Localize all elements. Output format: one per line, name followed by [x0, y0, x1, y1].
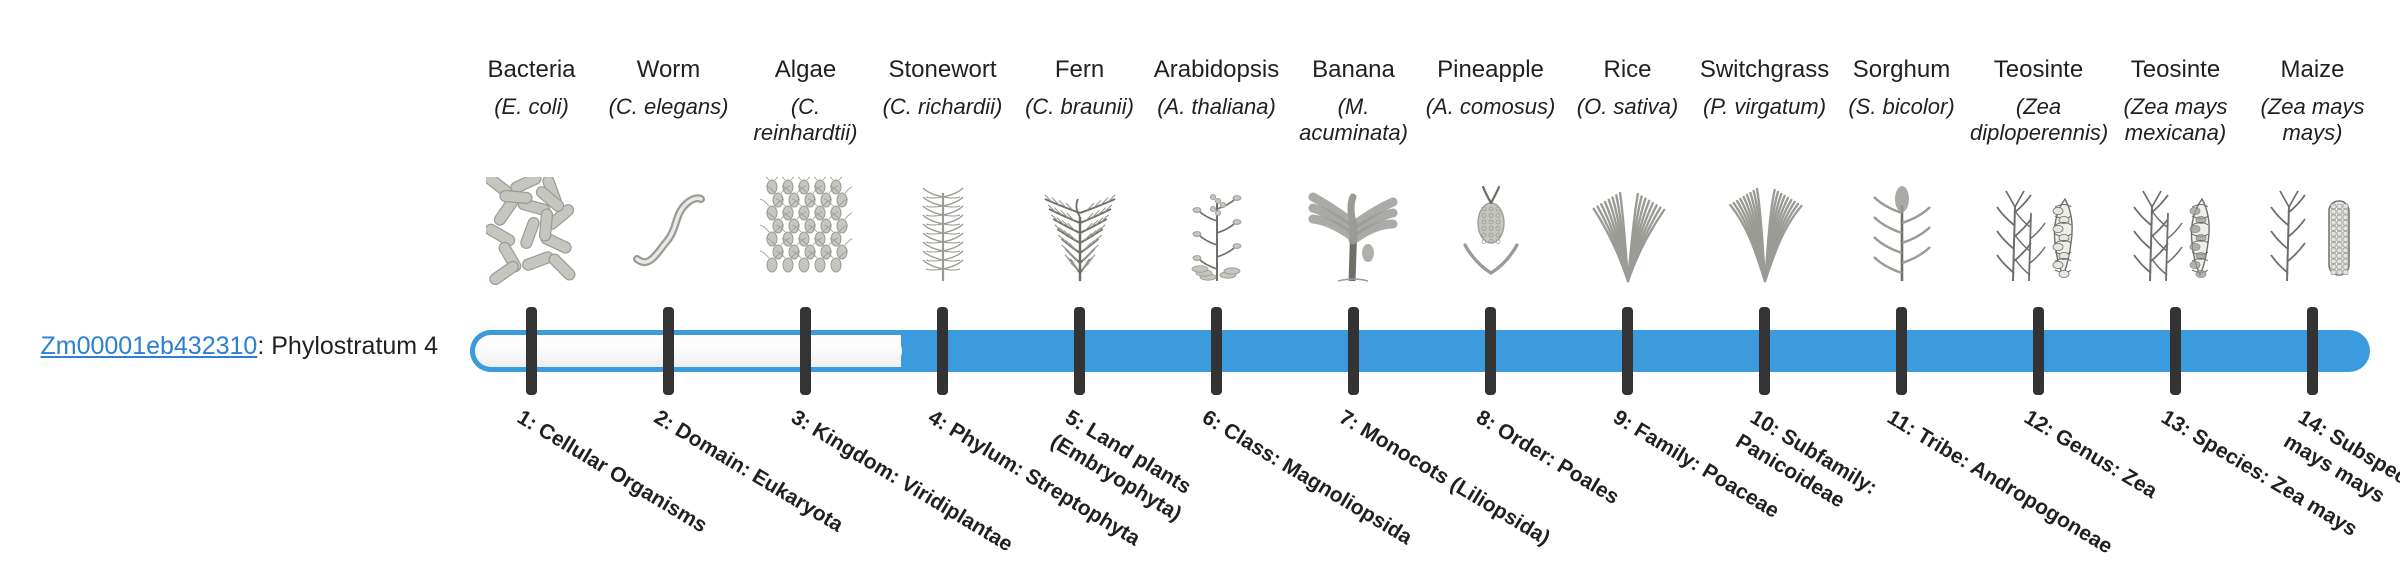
phylostratum-rank: Monocots	[1356, 418, 1453, 489]
worm-illustration	[600, 175, 737, 285]
species-scientific-name: (P. virgatum)	[1696, 94, 1833, 120]
phylostratum-number: 3:	[787, 406, 815, 435]
species-scientific-name: (A. comosus)	[1422, 94, 1559, 120]
pineapple-illustration	[1422, 175, 1559, 285]
phylostratum-label-13: 13: Species: Zea mays	[2155, 404, 2392, 562]
phylostratum-number: 9:	[1609, 406, 1637, 435]
fern-illustration	[1011, 175, 1148, 285]
phylostratum-value-text: Phylostratum 4	[271, 332, 438, 360]
species-scientific-name: (S. bicolor)	[1833, 94, 1970, 120]
phylostratum-rank: Tribe:	[1913, 424, 1974, 473]
phylostratum-label-10: 10: Subfamily: Panicoideae	[1730, 404, 1981, 585]
species-common-name: Stonewort	[874, 56, 1011, 84]
phylostratum-rank: Order:	[1493, 418, 1560, 471]
species-scientific-name: (Zea mays mays)	[2244, 94, 2381, 145]
phylostratum-taxon: Streptophyta	[1021, 464, 1144, 550]
species-column-6: Arabidopsis(A. thaliana)	[1148, 56, 1285, 120]
phylostratum-number: 6:	[1198, 406, 1226, 435]
species-scientific-name: (Zea mays mexicana)	[2107, 94, 2244, 145]
phylostratum-tick-2[interactable]	[663, 307, 674, 395]
phylostratum-number: 7:	[1335, 406, 1363, 435]
bacteria-illustration	[463, 175, 600, 285]
phylostratum-tick-5[interactable]	[1074, 307, 1085, 395]
phylostratum-number: 2:	[650, 406, 678, 435]
phylostratum-label-1: 1: Cellular Organisms	[511, 404, 748, 562]
switchgrass-illustration	[1696, 175, 1833, 285]
arabidopsis-illustration	[1148, 175, 1285, 285]
phylostratum-number: 5:	[1061, 406, 1089, 435]
species-common-name: Pineapple	[1422, 56, 1559, 84]
phylostratum-tick-13[interactable]	[2170, 307, 2181, 395]
species-column-1: Bacteria(E. coli)	[463, 56, 600, 120]
phylostratum-tick-6[interactable]	[1211, 307, 1222, 395]
species-column-13: Teosinte(Zea mays mexicana)	[2107, 56, 2244, 145]
species-column-11: Sorghum(S. bicolor)	[1833, 56, 1970, 120]
phylostratum-rank: Phylum:	[945, 418, 1028, 480]
species-common-name: Fern	[1011, 56, 1148, 84]
phylostratum-number: 4:	[924, 406, 952, 435]
species-scientific-name: (E. coli)	[463, 94, 600, 120]
species-common-name: Banana	[1285, 56, 1422, 84]
phylostratum-rank: Land plants	[1082, 418, 1195, 498]
phylostratum-tick-12[interactable]	[2033, 307, 2044, 395]
phylostratum-tick-1[interactable]	[526, 307, 537, 395]
species-scientific-name: (O. sativa)	[1559, 94, 1696, 120]
species-common-name: Maize	[2244, 56, 2381, 84]
phylostratum-rank: Cellular	[534, 418, 612, 477]
algae-illustration	[737, 175, 874, 285]
phylostratum-tick-14[interactable]	[2307, 307, 2318, 395]
phylostratum-taxon: Zea mays	[2267, 472, 2361, 541]
phylostratum-label-3: 3: Kingdom: Viridiplantae	[785, 404, 1022, 562]
phylostratum-taxon: Zea	[2118, 465, 2161, 503]
phylostratum-bar-track[interactable]	[470, 330, 2370, 372]
phylostratum-number: 10:	[1746, 406, 1784, 441]
gene-id-link[interactable]: Zm00001eb432310	[40, 332, 257, 360]
species-column-10: Switchgrass(P. virgatum)	[1696, 56, 1833, 120]
phylostratum-taxon: Zea mays mays	[2279, 429, 2400, 529]
gene-phylostratum-label: Zm00001eb432310: Phylostratum 4	[38, 331, 438, 361]
teosinte-mexicana-illustration	[2107, 175, 2244, 285]
species-column-8: Pineapple(A. comosus)	[1422, 56, 1559, 120]
phylostratum-taxon: (Liliopsida)	[1446, 472, 1554, 549]
species-column-14: Maize(Zea mays mays)	[2244, 56, 2381, 145]
species-column-5: Fern(C. braunii)	[1011, 56, 1148, 120]
banana-illustration	[1285, 175, 1422, 285]
species-scientific-name: (C. richardii)	[874, 94, 1011, 120]
phylostratum-number: 1:	[513, 406, 541, 435]
phylostratum-timeline: Zm00001eb432310: Phylostratum 4 Bacteria…	[0, 0, 2400, 580]
species-column-9: Rice(O. sativa)	[1559, 56, 1696, 120]
phylostratum-bar-unfilled-interior	[475, 335, 901, 367]
phylostratum-taxon: Poales	[1553, 454, 1623, 509]
phylostratum-rank: Subfamily:	[1777, 424, 1881, 499]
phylostratum-bar-fill-boundary-cap	[868, 335, 902, 367]
species-common-name: Switchgrass	[1696, 56, 1833, 84]
phylostratum-tick-3[interactable]	[800, 307, 811, 395]
phylostratum-tick-8[interactable]	[1485, 307, 1496, 395]
phylostratum-number: 13:	[2157, 406, 2195, 441]
rice-illustration	[1559, 175, 1696, 285]
species-column-7: Banana(M. acuminata)	[1285, 56, 1422, 145]
species-scientific-name: (C. braunii)	[1011, 94, 1148, 120]
phylostratum-taxon: Panicoideae	[1731, 429, 1848, 512]
species-scientific-name: (M. acuminata)	[1285, 94, 1422, 145]
species-common-name: Rice	[1559, 56, 1696, 84]
phylostratum-taxon: Eukaryota	[748, 465, 847, 537]
phylostratum-rank: Subspecies:	[2325, 424, 2400, 507]
phylostratum-number: 14:	[2294, 406, 2332, 441]
species-common-name: Algae	[737, 56, 874, 84]
phylostratum-rank: Kingdom:	[808, 418, 904, 488]
phylostratum-tick-11[interactable]	[1896, 307, 1907, 395]
species-column-12: Teosinte(Zea diploperennis)	[1970, 56, 2107, 145]
phylostratum-taxon: Viridiplantae	[897, 472, 1017, 556]
phylostratum-tick-7[interactable]	[1348, 307, 1359, 395]
phylostratum-label-14: 14: Subspecies: Zea mays mays	[2278, 404, 2400, 585]
species-scientific-name: (C. reinhardtii)	[737, 94, 874, 145]
species-column-4: Stonewort(C. richardii)	[874, 56, 1011, 120]
phylostratum-taxon: (Embryophyta)	[1046, 429, 1185, 525]
phylostratum-taxon: Organisms	[605, 461, 711, 537]
phylostratum-number: 11:	[1883, 406, 1920, 441]
phylostratum-taxon: Poaceae	[1698, 459, 1783, 523]
phylostratum-tick-9[interactable]	[1622, 307, 1633, 395]
phylostratum-number: 8:	[1472, 406, 1500, 435]
maize-illustration	[2244, 175, 2381, 285]
phylostratum-label-12: 12: Genus: Zea	[2018, 404, 2255, 562]
species-scientific-name: (C. elegans)	[600, 94, 737, 120]
phylostratum-label-6: 6: Class: Magnoliopsida	[1196, 404, 1433, 562]
phylostratum-rank: Genus:	[2051, 424, 2125, 481]
species-common-name: Sorghum	[1833, 56, 1970, 84]
phylostratum-label-5: 5: Land plants (Embryophyta)	[1045, 404, 1296, 585]
phylostratum-taxon: Andropogoneae	[1966, 456, 2116, 559]
phylostratum-tick-4[interactable]	[937, 307, 948, 395]
phylostratum-number: 12:	[2020, 406, 2058, 441]
phylostratum-rank: Class:	[1219, 418, 1285, 470]
phylostratum-taxon: Magnoliopsida	[1278, 454, 1416, 549]
species-common-name: Teosinte	[1970, 56, 2107, 84]
species-scientific-name: (Zea diploperennis)	[1970, 94, 2107, 145]
phylostratum-label-8: 8: Order: Poales	[1470, 404, 1707, 562]
phylostratum-label-7: 7: Monocots (Liliopsida)	[1333, 404, 1570, 562]
phylostratum-rank: Domain:	[671, 418, 755, 481]
gene-label-separator: :	[257, 332, 271, 360]
species-column-2: Worm(C. elegans)	[600, 56, 737, 120]
phylostratum-tick-10[interactable]	[1759, 307, 1770, 395]
species-common-name: Bacteria	[463, 56, 600, 84]
species-scientific-name: (A. thaliana)	[1148, 94, 1285, 120]
stonewort-illustration	[874, 175, 1011, 285]
phylostratum-rank: Family:	[1630, 418, 1705, 476]
species-common-name: Teosinte	[2107, 56, 2244, 84]
phylostratum-label-9: 9: Family: Poaceae	[1607, 404, 1844, 562]
species-common-name: Arabidopsis	[1148, 56, 1285, 84]
species-column-3: Algae(C. reinhardtii)	[737, 56, 874, 145]
sorghum-illustration	[1833, 175, 1970, 285]
phylostratum-label-2: 2: Domain: Eukaryota	[648, 404, 885, 562]
phylostratum-label-11: 11: Tribe: Andropogoneae	[1881, 404, 2118, 562]
teosinte-diploperennis-illustration	[1970, 175, 2107, 285]
phylostratum-label-4: 4: Phylum: Streptophyta	[922, 404, 1159, 562]
phylostratum-rank: Species:	[2188, 424, 2274, 488]
species-common-name: Worm	[600, 56, 737, 84]
